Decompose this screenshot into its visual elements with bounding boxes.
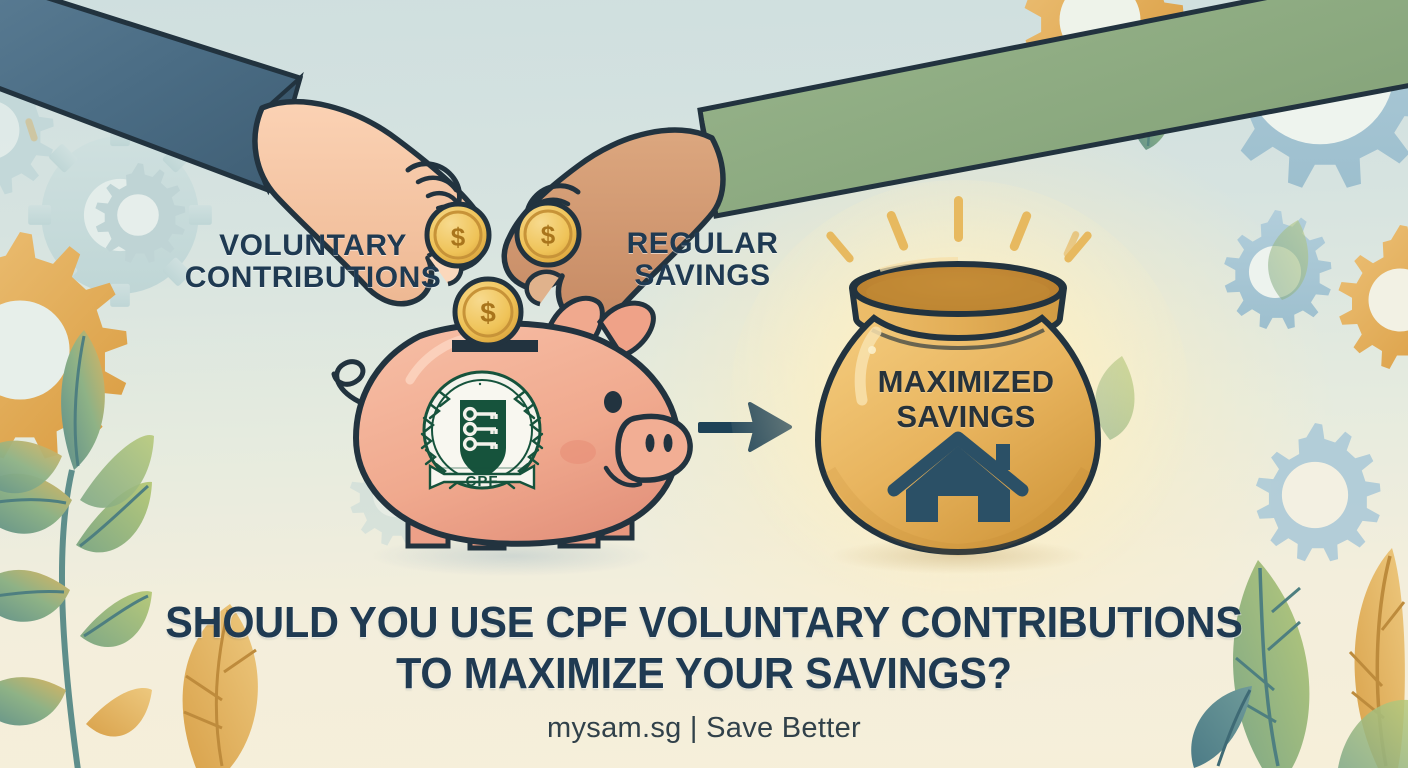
coin-regular-symbol: $ xyxy=(531,220,565,251)
headline-line-1: SHOULD YOU USE CPF VOLUNTARY CONTRIBUTIO… xyxy=(42,597,1366,648)
jar-label-maximized-savings: MAXIMIZED SAVINGS xyxy=(862,364,1070,434)
page-headline: SHOULD YOU USE CPF VOLUNTARY CONTRIBUTIO… xyxy=(42,597,1366,700)
label-voluntary-contributions: VOLUNTARY CONTRIBUTIONS xyxy=(148,230,478,295)
label-regular-savings: REGULAR SAVINGS xyxy=(605,228,800,293)
headline-line-2: TO MAXIMIZE YOUR SAVINGS? xyxy=(42,648,1366,699)
jar-highlight-dot xyxy=(868,346,876,354)
infographic-canvas: VOLUNTARY CONTRIBUTIONS REGULAR SAVINGS … xyxy=(0,0,1408,768)
cpf-logo-word: CPF xyxy=(452,473,512,490)
coin-slot-symbol: $ xyxy=(470,297,506,329)
brand-tagline: mysam.sg | Save Better xyxy=(0,712,1408,745)
coin-voluntary-symbol: $ xyxy=(441,222,475,253)
jar-mouth-inner xyxy=(866,273,1050,311)
